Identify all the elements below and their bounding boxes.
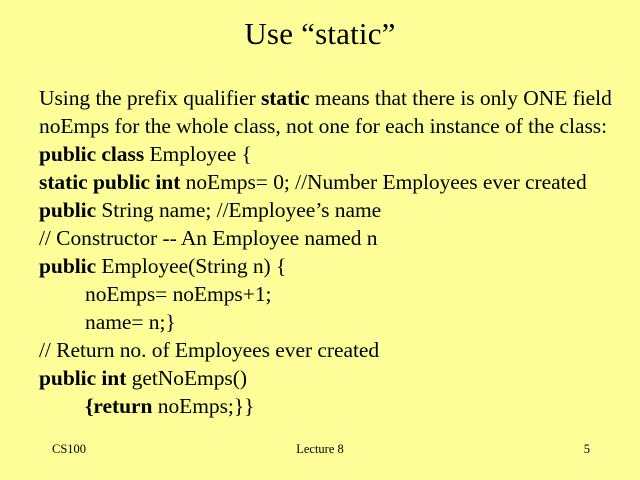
slide-footer: CS100 Lecture 8 5 [0, 441, 640, 461]
body-line: Using the prefix qualifier static means … [39, 84, 631, 112]
code-text: noEmps= noEmps+1; [85, 282, 271, 306]
code-text: // Constructor -- An Employee named n [39, 226, 378, 250]
body-line: public class Employee { [39, 140, 631, 168]
body-line: public String name; //Employee’s name [39, 196, 631, 224]
body-line: static public int noEmps= 0; //Number Em… [39, 168, 631, 196]
code-keyword: static [261, 86, 310, 110]
code-keyword: public [39, 198, 96, 222]
slide-canvas: Use “static” Using the prefix qualifier … [0, 0, 640, 480]
code-text: Using the prefix qualifier [39, 86, 261, 110]
code-keyword: public [39, 254, 96, 278]
code-keyword: static public int [39, 170, 180, 194]
body-line: // Return no. of Employees ever created [39, 336, 631, 364]
slide-body: Using the prefix qualifier static means … [39, 84, 631, 420]
code-text: noEmps;}} [152, 394, 254, 418]
body-line: noEmps for the whole class, not one for … [39, 112, 631, 140]
body-line: public int getNoEmps() [39, 364, 631, 392]
code-text: name= n;} [85, 310, 176, 334]
code-text: noEmps for the whole class, not one for … [39, 114, 607, 138]
page-title: Use “static” [0, 16, 640, 52]
code-text: Employee(String n) { [96, 254, 286, 278]
code-text: String name; //Employee’s name [96, 198, 381, 222]
body-line: public Employee(String n) { [39, 252, 631, 280]
code-text: noEmps= 0; //Number Employees ever creat… [180, 170, 586, 194]
code-keyword: public class [39, 142, 144, 166]
body-line: // Constructor -- An Employee named n [39, 224, 631, 252]
body-line: name= n;} [39, 308, 631, 336]
code-keyword: {return [85, 394, 152, 418]
code-text: means that there is only ONE field [310, 86, 612, 110]
body-line: {return noEmps;}} [39, 392, 631, 420]
code-text: // Return no. of Employees ever created [39, 338, 379, 362]
code-text: getNoEmps() [126, 366, 247, 390]
code-keyword: public int [39, 366, 126, 390]
code-text: Employee { [144, 142, 252, 166]
footer-page-number: 5 [0, 441, 640, 457]
body-line: noEmps= noEmps+1; [39, 280, 631, 308]
